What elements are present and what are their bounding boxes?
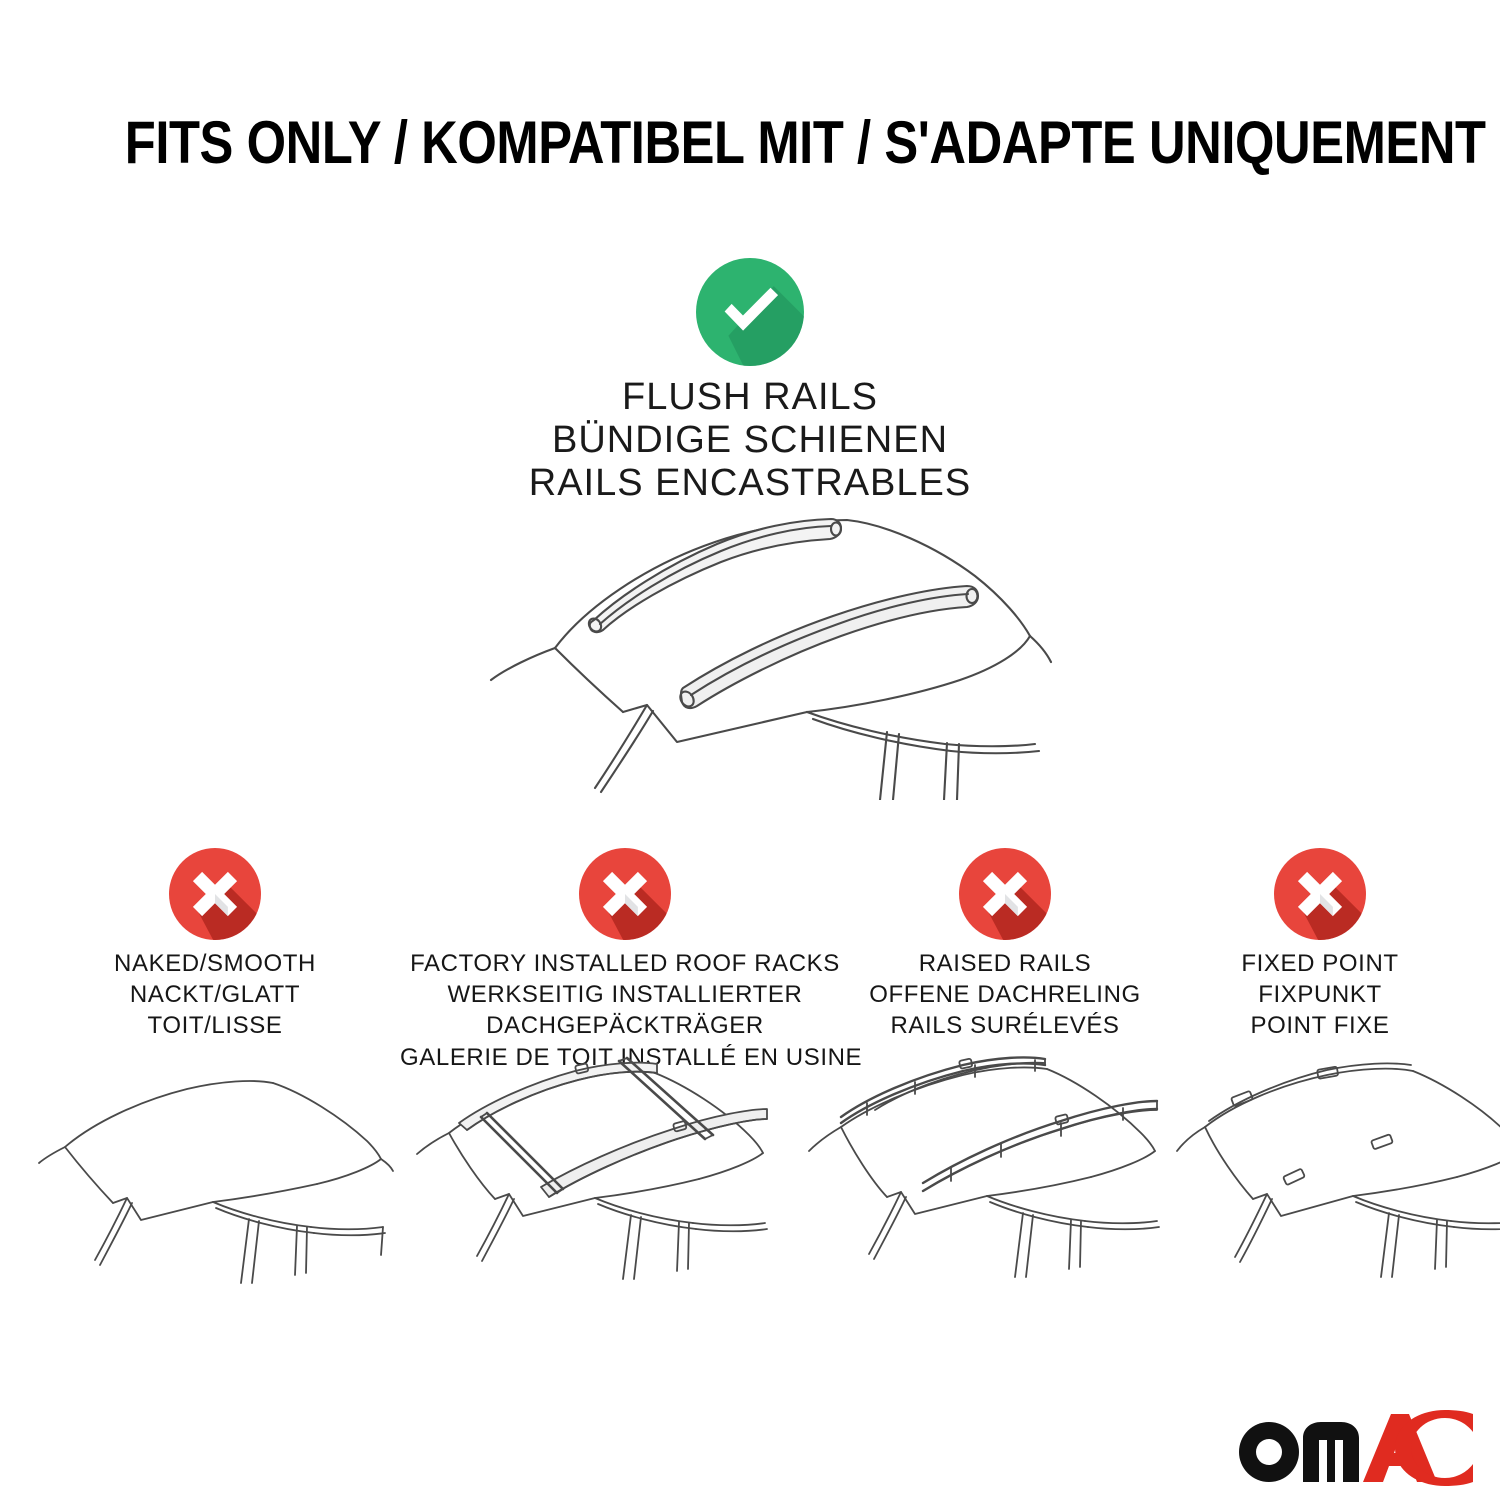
omac-logo <box>1235 1408 1475 1486</box>
x-circle-icon <box>579 848 671 940</box>
compatible-line-de: BÜNDIGE SCHIENEN <box>0 419 1500 462</box>
incompatible-line-de-1: WERKSEITIG INSTALLIERTER <box>400 979 850 1010</box>
incompatible-caption: FIXED POINT FIXPUNKT POINT FIXE <box>1195 948 1445 1042</box>
car-roof-with-factory-crossbars-illustration <box>415 1055 775 1290</box>
page-title-text: FITS ONLY / KOMPATIBEL MIT / S'ADAPTE UN… <box>125 108 1486 177</box>
car-roof-with-flush-rails-illustration <box>455 500 1055 800</box>
x-circle-icon <box>1274 848 1366 940</box>
compatible-line-en: FLUSH RAILS <box>0 376 1500 419</box>
incompatible-line-de-2: DACHGEPÄCKTRÄGER <box>400 1010 850 1041</box>
compatibility-infographic: FITS ONLY / KOMPATIBEL MIT / S'ADAPTE UN… <box>0 0 1500 1500</box>
car-roof-bare-illustration <box>35 1055 395 1290</box>
incompatible-line-fr: TOIT/LISSE <box>60 1010 370 1041</box>
page-title: FITS ONLY / KOMPATIBEL MIT / S'ADAPTE UN… <box>0 108 1500 177</box>
incompatible-line-fr: RAILS SURÉLEVÉS <box>840 1010 1170 1041</box>
x-circle-icon <box>959 848 1051 940</box>
omac-logo-mark <box>1235 1408 1475 1486</box>
incompatible-line-de: NACKT/GLATT <box>60 979 370 1010</box>
incompatible-item-factory-roof-racks: FACTORY INSTALLED ROOF RACKS WERKSEITIG … <box>400 848 850 1073</box>
car-roof-with-raised-rails-illustration <box>805 1055 1165 1290</box>
x-circle-icon <box>169 848 261 940</box>
incompatible-caption: NAKED/SMOOTH NACKT/GLATT TOIT/LISSE <box>60 948 370 1042</box>
incompatible-line-en: RAISED RAILS <box>840 948 1170 979</box>
compatible-caption: FLUSH RAILS BÜNDIGE SCHIENEN RAILS ENCAS… <box>0 376 1500 505</box>
car-roof-with-fixed-points-illustration <box>1175 1055 1500 1290</box>
compatible-section: FLUSH RAILS BÜNDIGE SCHIENEN RAILS ENCAS… <box>0 258 1500 505</box>
incompatible-line-fr: POINT FIXE <box>1195 1010 1445 1041</box>
incompatible-line-en: NAKED/SMOOTH <box>60 948 370 979</box>
roof-illustrations-row <box>0 1055 1500 1295</box>
logo-letter-m <box>1303 1422 1359 1482</box>
incompatible-caption: RAISED RAILS OFFENE DACHRELING RAILS SUR… <box>840 948 1170 1042</box>
incompatible-line-de: OFFENE DACHRELING <box>840 979 1170 1010</box>
incompatible-item-fixed-point: FIXED POINT FIXPUNKT POINT FIXE <box>1195 848 1445 1042</box>
check-circle-icon <box>696 258 804 366</box>
incompatible-item-naked-smooth: NAKED/SMOOTH NACKT/GLATT TOIT/LISSE <box>60 848 370 1042</box>
incompatible-sections: NAKED/SMOOTH NACKT/GLATT TOIT/LISSE FACT… <box>0 848 1500 1058</box>
incompatible-item-raised-rails: RAISED RAILS OFFENE DACHRELING RAILS SUR… <box>840 848 1170 1042</box>
compatible-line-fr: RAILS ENCASTRABLES <box>0 462 1500 505</box>
incompatible-line-de: FIXPUNKT <box>1195 979 1445 1010</box>
incompatible-line-en: FIXED POINT <box>1195 948 1445 979</box>
logo-letter-o <box>1239 1422 1299 1482</box>
incompatible-line-en: FACTORY INSTALLED ROOF RACKS <box>400 948 850 979</box>
